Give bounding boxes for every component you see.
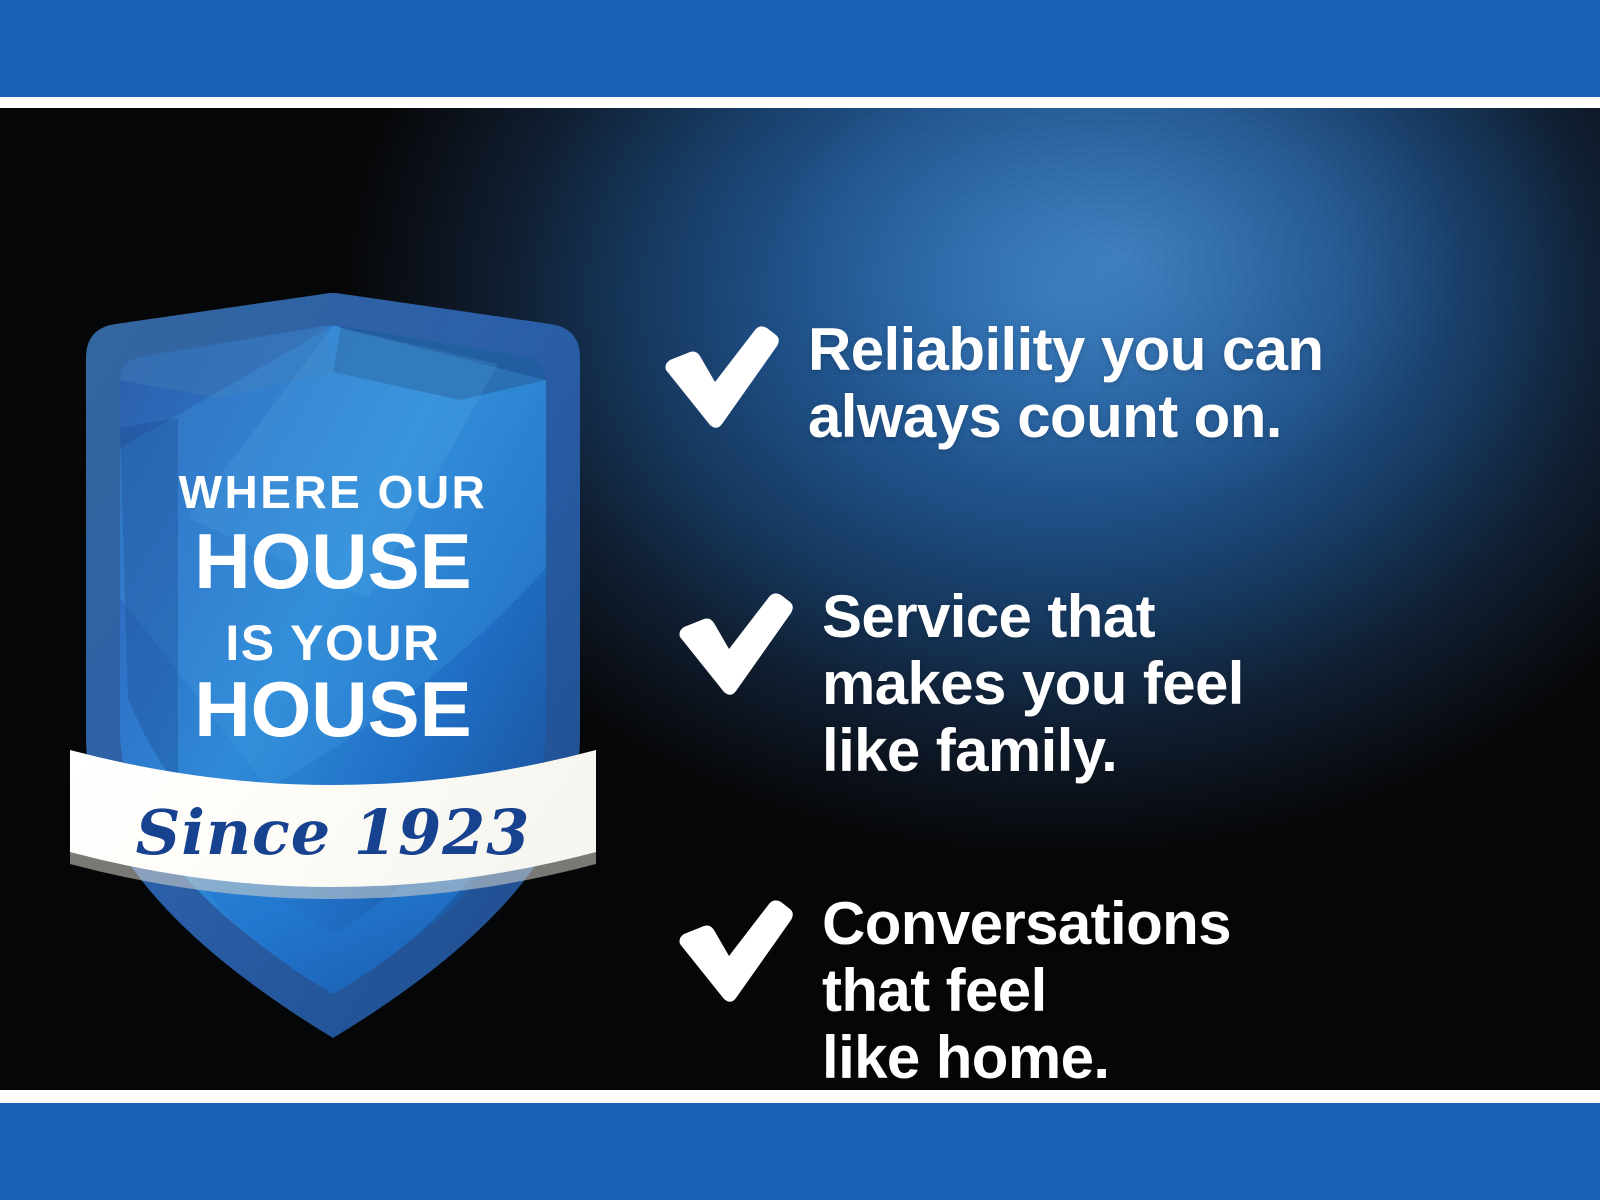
top-white-divider	[0, 97, 1600, 108]
badge-line-3: IS YOUR	[225, 615, 440, 671]
badge-line-4: HOUSE	[194, 665, 471, 753]
list-item: Service that makes you feel like family.	[674, 583, 1244, 785]
main-stage: WHERE OUR HOUSE IS YOUR HOUSE Since 1923	[0, 108, 1600, 1090]
badge-line-2: HOUSE	[194, 517, 471, 605]
list-item-text: Reliability you can always count on.	[808, 316, 1323, 450]
list-item: Reliability you can always count on.	[660, 316, 1323, 450]
bottom-white-divider	[0, 1090, 1600, 1103]
list-item-text: Service that makes you feel like family.	[822, 583, 1244, 785]
bottom-brand-band	[0, 1103, 1600, 1200]
check-icon	[674, 896, 794, 1008]
ribbon-since-text: Since 1923	[136, 796, 531, 869]
list-item-text: Conversations that feel like home.	[822, 890, 1231, 1090]
check-icon	[660, 322, 780, 434]
promo-graphic: WHERE OUR HOUSE IS YOUR HOUSE Since 1923	[0, 0, 1600, 1200]
list-item: Conversations that feel like home.	[674, 890, 1231, 1090]
shield-badge-logo: WHERE OUR HOUSE IS YOUR HOUSE Since 1923	[68, 268, 598, 1058]
badge-line-1: WHERE OUR	[179, 466, 488, 518]
top-brand-band	[0, 0, 1600, 97]
check-icon	[674, 589, 794, 701]
